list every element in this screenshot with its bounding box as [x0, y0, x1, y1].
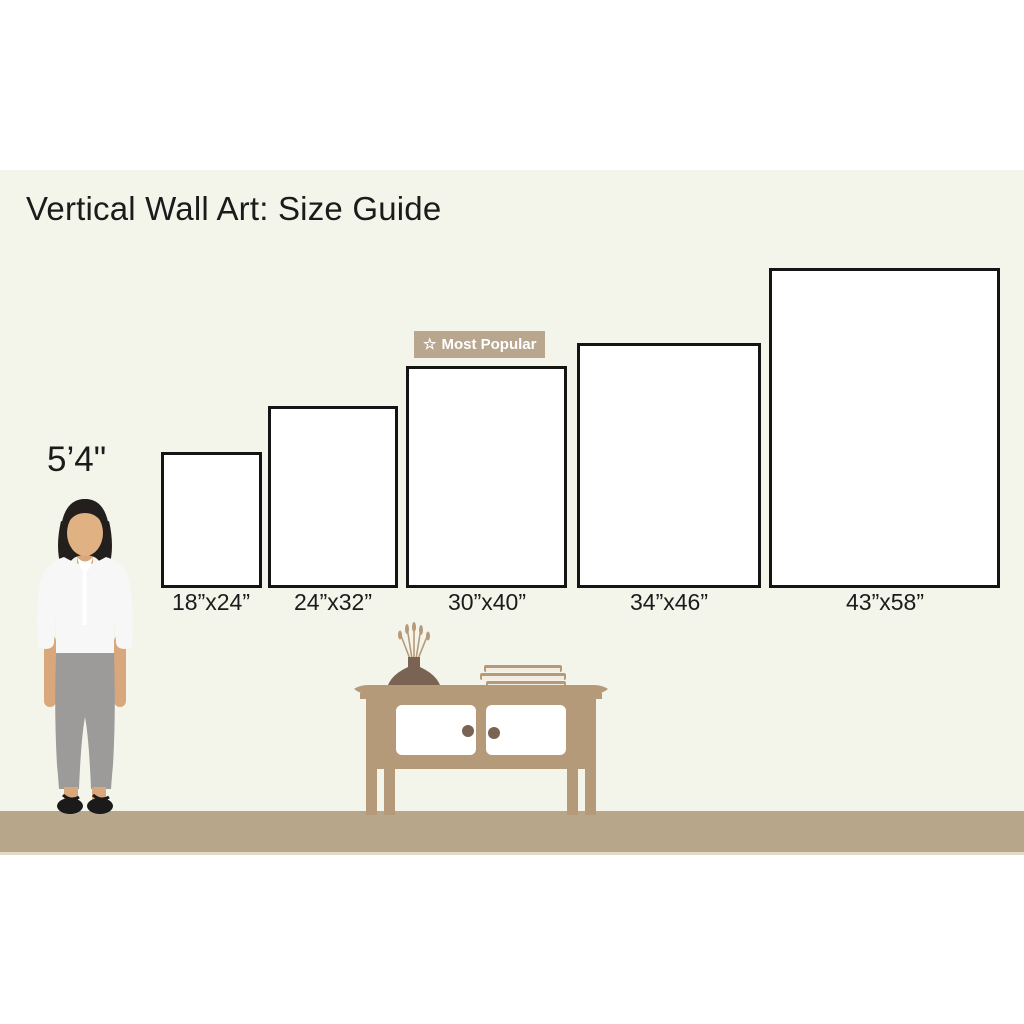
star-icon: ☆ [423, 337, 436, 352]
console-table [350, 615, 612, 815]
size-label-4: 34”x46” [579, 589, 759, 616]
size-label-2: 24”x32” [243, 589, 423, 616]
size-label-5: 43”x58” [795, 589, 975, 616]
size-guide-image: Vertical Wall Art: Size Guide 5’4" [0, 0, 1024, 1024]
most-popular-badge: ☆ Most Popular [414, 331, 545, 358]
height-reference-label: 5’4" [47, 440, 106, 480]
floor-band [0, 811, 1024, 855]
art-frame-1[interactable] [161, 452, 262, 588]
floor-shadow-line [0, 852, 1024, 855]
art-frame-5[interactable] [769, 268, 1000, 588]
woman-figure [20, 495, 150, 825]
art-frame-4[interactable] [577, 343, 761, 588]
size-label-3: 30”x40” [397, 589, 577, 616]
page-title: Vertical Wall Art: Size Guide [26, 190, 441, 228]
most-popular-badge-label: Most Popular [441, 336, 536, 353]
art-frame-3[interactable] [406, 366, 567, 588]
art-frame-2[interactable] [268, 406, 398, 588]
